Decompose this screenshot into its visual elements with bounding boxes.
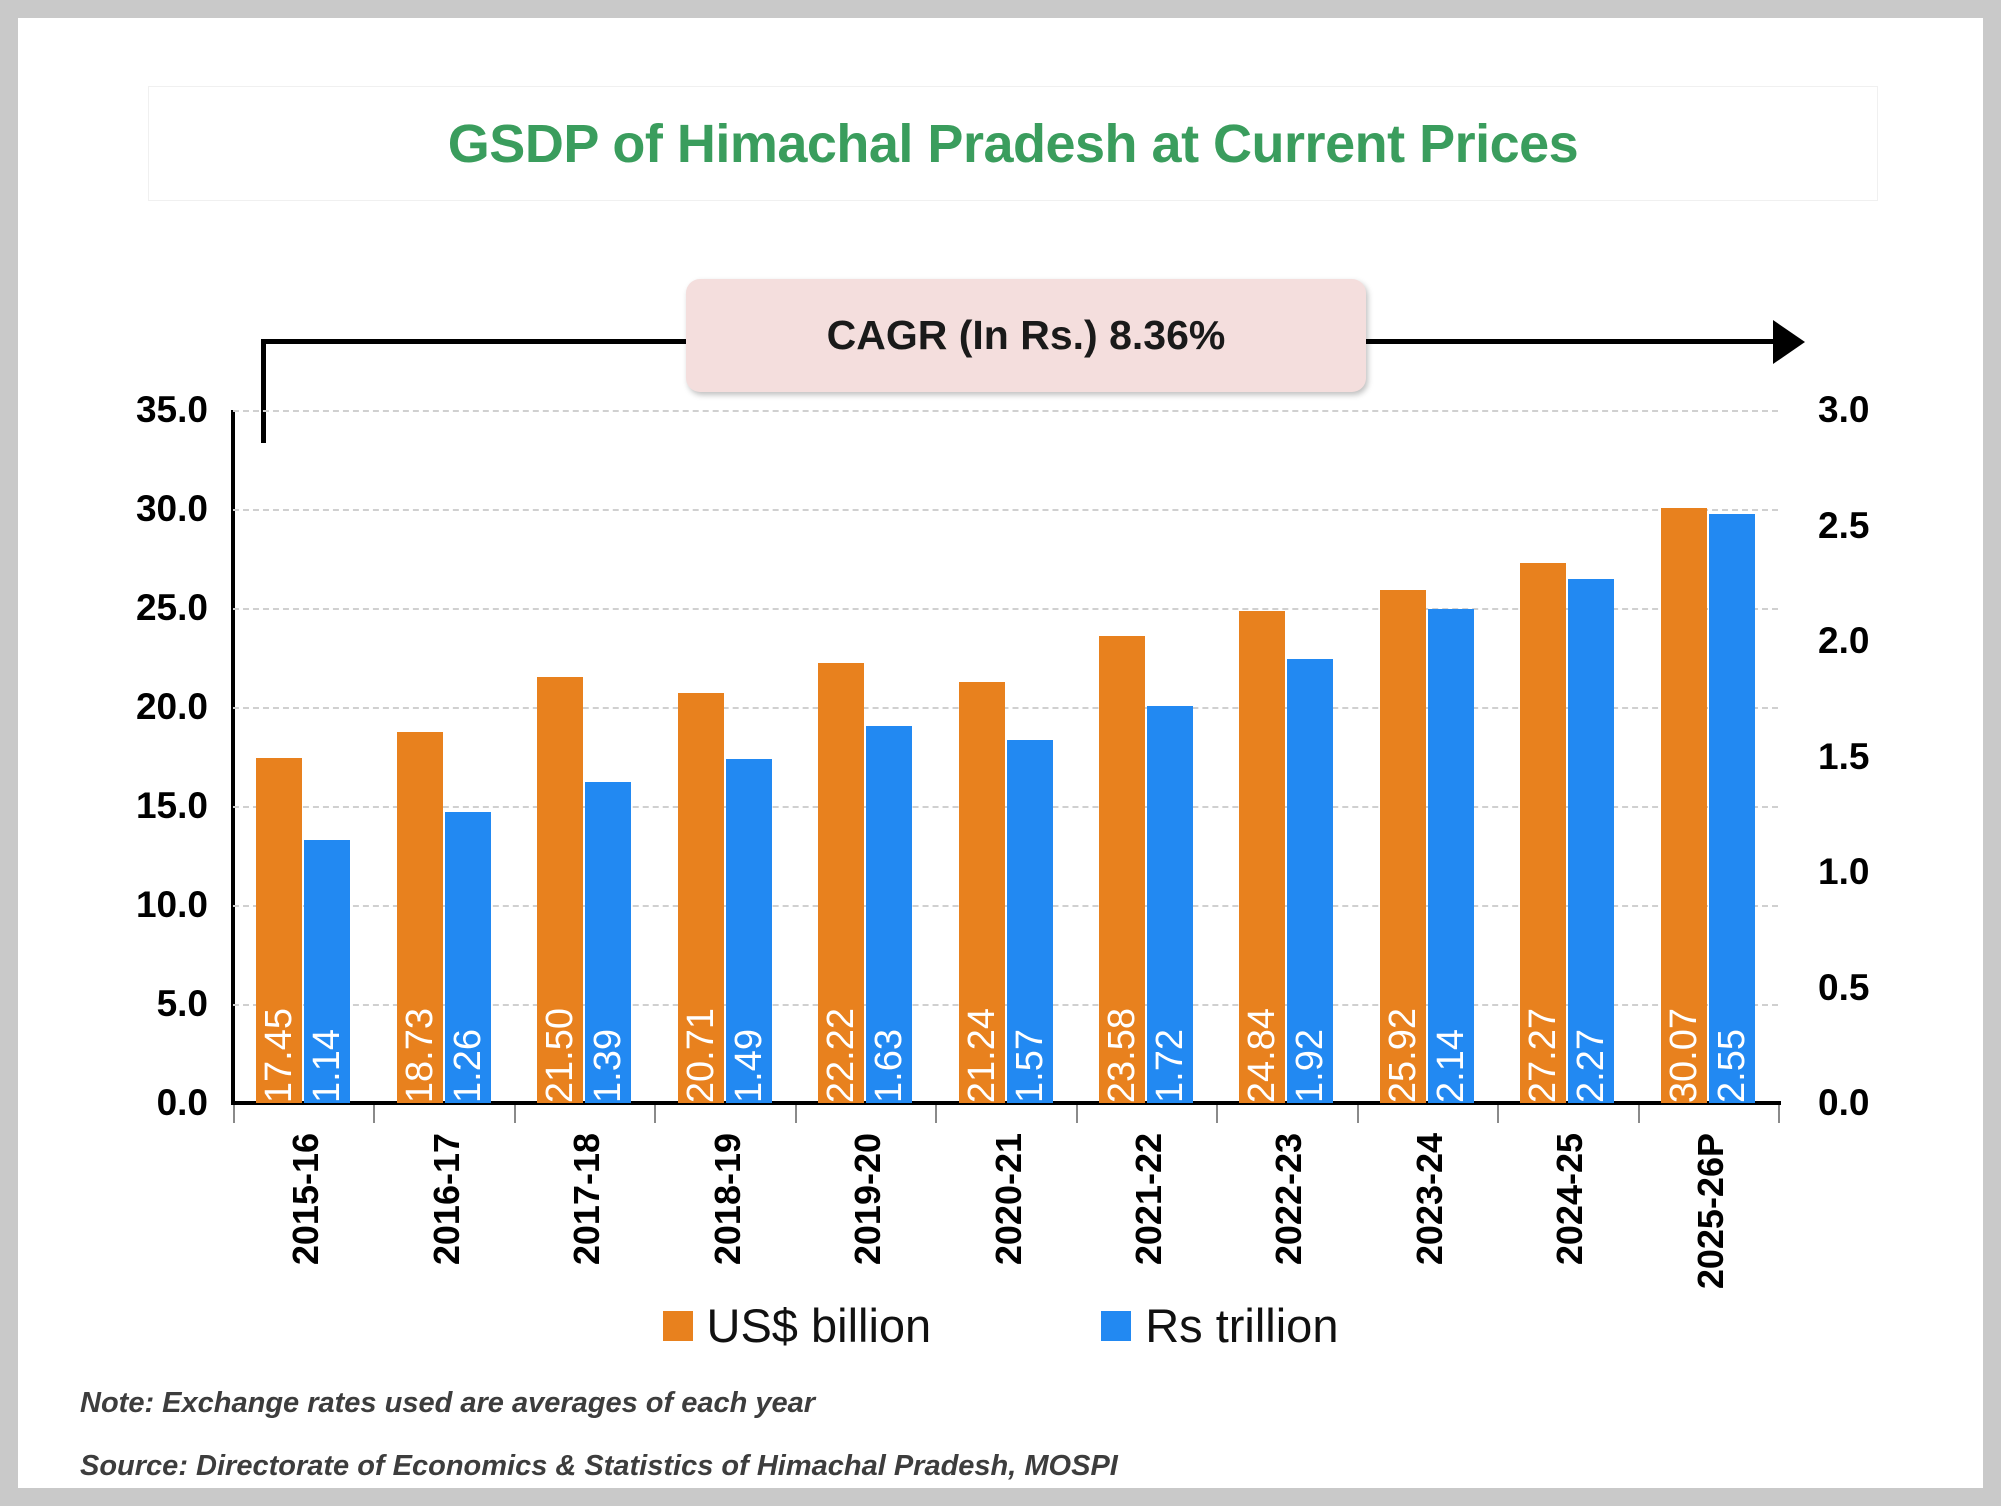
legend-label-rs: Rs trillion [1145,1298,1338,1353]
x-axis-tick [373,1105,375,1123]
cagr-arrow-head-icon [1773,320,1805,364]
gridline [233,410,1778,412]
left-axis-tick-label: 5.0 [78,983,208,1025]
bar-value-label: 30.07 [1665,1008,1703,1103]
bar-value-label: 24.84 [1243,1008,1281,1103]
x-axis-tick [1497,1105,1499,1123]
right-axis-tick-label: 1.0 [1818,851,1948,893]
bar-value-label: 18.73 [401,1008,439,1103]
x-axis-tick [1216,1105,1218,1123]
x-axis-category-label: 2020-21 [988,1133,1030,1265]
bar-value-label: 22.22 [822,1008,860,1103]
left-axis-tick-label: 30.0 [78,488,208,530]
bar-rs[interactable]: 1.49 [726,759,772,1103]
cagr-annotation-box: CAGR (In Rs.) 8.36% [686,279,1366,392]
x-axis-tick [1076,1105,1078,1123]
bar-rs[interactable]: 2.55 [1709,514,1755,1103]
legend-swatch-usd-icon [663,1311,693,1341]
x-axis-category-label: 2017-18 [566,1133,608,1265]
legend-item-usd[interactable]: US$ billion [663,1298,932,1353]
bar-rs[interactable]: 1.72 [1147,706,1193,1103]
bar-usd[interactable]: 23.58 [1099,636,1145,1103]
bar-rs[interactable]: 1.26 [445,812,491,1103]
right-axis-tick-label: 0.0 [1818,1082,1948,1124]
legend-label-usd: US$ billion [707,1298,932,1353]
x-axis-category-label: 2018-19 [707,1133,749,1265]
cagr-annotation-label: CAGR (In Rs.) 8.36% [827,312,1226,359]
bar-rs[interactable]: 1.57 [1007,740,1053,1103]
bar-value-label: 21.50 [541,1008,579,1103]
bar-rs[interactable]: 2.27 [1568,579,1614,1103]
x-axis-category-label: 2019-20 [847,1133,889,1265]
bar-value-label: 27.27 [1524,1008,1562,1103]
x-axis-category-label: 2025-26P [1690,1133,1732,1289]
bar-usd[interactable]: 24.84 [1239,611,1285,1103]
x-axis-category-label: 2023-24 [1409,1133,1451,1265]
chart-legend: US$ billion Rs trillion [18,1298,1983,1353]
x-axis-tick [233,1105,235,1123]
right-axis-tick-label: 2.0 [1818,620,1948,662]
left-axis-tick-label: 10.0 [78,884,208,926]
bar-value-label: 21.24 [963,1008,1001,1103]
bar-usd[interactable]: 22.22 [818,663,864,1103]
bar-rs[interactable]: 1.63 [866,726,912,1103]
left-axis-tick-label: 35.0 [78,389,208,431]
bar-value-label: 1.57 [1011,1029,1049,1103]
plot-area: 17.451.1418.731.2621.501.3920.711.4922.2… [233,410,1778,1103]
legend-swatch-rs-icon [1101,1311,1131,1341]
chart-frame: GSDP of Himachal Pradesh at Current Pric… [0,0,2001,1506]
bar-rs[interactable]: 1.39 [585,782,631,1103]
bar-value-label: 2.14 [1432,1029,1470,1103]
bar-value-label: 23.58 [1103,1008,1141,1103]
bar-value-label: 2.55 [1713,1029,1751,1103]
x-axis-tick [1638,1105,1640,1123]
gridline [233,509,1778,511]
bar-usd[interactable]: 18.73 [397,732,443,1103]
x-axis-tick [795,1105,797,1123]
footnote-note: Note: Exchange rates used are averages o… [80,1387,815,1420]
page-title: GSDP of Himachal Pradesh at Current Pric… [448,113,1578,175]
legend-item-rs[interactable]: Rs trillion [1101,1298,1338,1353]
bar-value-label: 1.49 [730,1029,768,1103]
bar-value-label: 1.39 [589,1029,627,1103]
left-axis-tick-label: 20.0 [78,686,208,728]
bar-usd[interactable]: 25.92 [1380,590,1426,1103]
bar-value-label: 20.71 [682,1008,720,1103]
footnote-source: Source: Directorate of Economics & Stati… [80,1450,1118,1483]
bar-usd[interactable]: 27.27 [1520,563,1566,1103]
bar-usd[interactable]: 20.71 [678,693,724,1103]
bar-usd[interactable]: 17.45 [256,758,302,1104]
x-axis-tick [654,1105,656,1123]
bar-value-label: 1.26 [449,1029,487,1103]
x-axis-category-label: 2022-23 [1268,1133,1310,1265]
title-container: GSDP of Himachal Pradesh at Current Pric… [148,86,1878,201]
bar-value-label: 25.92 [1384,1008,1422,1103]
x-axis-tick [1778,1105,1780,1123]
x-axis-category-label: 2024-25 [1549,1133,1591,1265]
bar-rs[interactable]: 1.14 [304,840,350,1103]
bar-value-label: 1.92 [1291,1029,1329,1103]
bar-rs[interactable]: 2.14 [1428,609,1474,1103]
chart-canvas: GSDP of Himachal Pradesh at Current Pric… [18,18,1983,1488]
x-axis-category-label: 2015-16 [285,1133,327,1265]
right-axis-tick-label: 1.5 [1818,736,1948,778]
bar-rs[interactable]: 1.92 [1287,659,1333,1103]
bar-value-label: 1.14 [308,1029,346,1103]
bar-value-label: 17.45 [260,1008,298,1103]
right-axis-tick-label: 0.5 [1818,967,1948,1009]
right-axis-tick-label: 2.5 [1818,505,1948,547]
x-axis-category-label: 2016-17 [426,1133,468,1265]
bar-value-label: 1.63 [870,1029,908,1103]
x-axis-tick [1357,1105,1359,1123]
x-axis-tick [514,1105,516,1123]
left-axis-tick-label: 15.0 [78,785,208,827]
bar-value-label: 2.27 [1572,1029,1610,1103]
bar-value-label: 1.72 [1151,1029,1189,1103]
left-axis-tick-label: 25.0 [78,587,208,629]
x-axis-category-label: 2021-22 [1128,1133,1170,1265]
bar-usd[interactable]: 30.07 [1661,508,1707,1103]
bar-usd[interactable]: 21.24 [959,682,1005,1103]
x-axis-tick [935,1105,937,1123]
bar-usd[interactable]: 21.50 [537,677,583,1103]
right-axis-tick-label: 3.0 [1818,389,1948,431]
left-axis-tick-label: 0.0 [78,1082,208,1124]
